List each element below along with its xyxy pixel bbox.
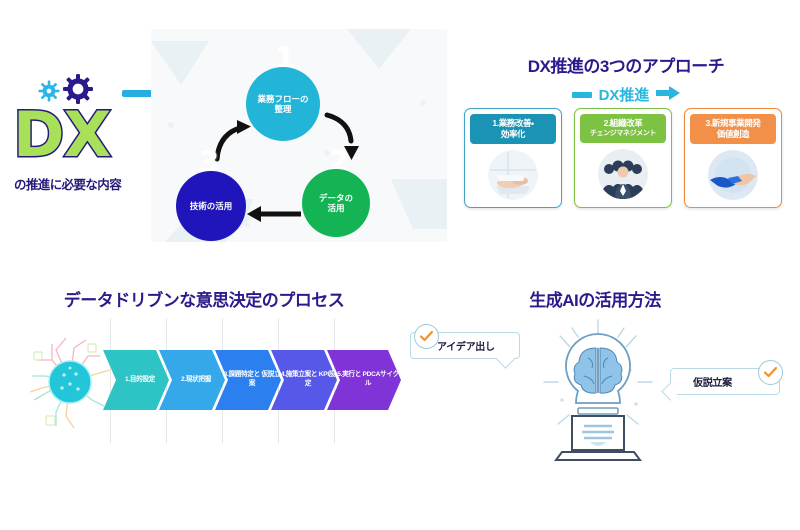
dx-subtitle: の推進に必要な内容 [14,174,121,193]
genai-bubble-2-label: 仮説立案 [693,374,732,389]
approach-card-3[interactable]: 3.新規事業開発 価値創造 [684,108,782,208]
approach-card-1-header: 1.業務改善・ 効率化 [470,114,556,144]
flow-circle-3[interactable]: 技術の活用 [176,171,246,241]
approach-card-3-header: 3.新規事業開発 価値創造 [690,114,776,144]
flow-circle-1[interactable]: 業務フローの 整理 [246,67,320,141]
process-step-3-line1: 3.課題特定と [224,371,260,378]
approach-subtitle-row: DX推進 [458,84,794,105]
approach-card-3-line2: 価値創造 [692,129,774,140]
dx-wordmark: DX [13,104,110,166]
process-section: データドリブンな意思決定のプロセス [18,286,390,446]
infographic-canvas: DX の推進に必要な内容 1 [0,0,800,530]
dx-flow-panel: 1 業務フローの 整理 2 データの 活用 3 技術の活用 [151,29,447,242]
circuit-sphere-icon [26,330,116,435]
process-step-5-line2: PDCAサイクル [363,371,399,387]
bubble-tail [496,350,514,368]
approach-card-2[interactable]: 2.組織改革 チェンジマネジメント [574,108,672,208]
bubble-tail [661,382,679,400]
process-step-1-line1: 1.目的設定 [125,376,155,383]
dash-icon [572,92,592,98]
laptop-hands-photo [488,150,538,200]
check-circle-icon [758,360,783,385]
approach-section: DX推進の3つのアプローチ DX推進 1.業務改善・ 効率化 [458,52,794,242]
flow-label-2-line2: 活用 [319,203,353,213]
approach-card-1[interactable]: 1.業務改善・ 効率化 [464,108,562,208]
process-body: 1.目的設定 2.現状把握 3.課題特定と 仮説立案 [18,318,390,443]
approach-title: DX推進の3つのアプローチ [458,52,794,77]
flow-label-3-line1: 技術の活用 [190,201,233,211]
genai-section: 生成AIの活用方法 [398,286,792,476]
genai-title: 生成AIの活用方法 [398,286,792,311]
approach-card-list: 1.業務改善・ 効率化 [464,108,790,208]
approach-subtitle: DX推進 [599,84,650,105]
process-title: データドリブンな意思決定のプロセス [18,286,390,311]
process-step-2-line1: 2.現状把握 [181,376,211,383]
check-circle-icon [414,324,439,349]
approach-card-2-line1: 2.組織改革 [582,118,664,129]
handshake-ai-photo [708,150,758,200]
process-step-5-line1: 5.実行と [337,371,361,378]
flow-label-1-line2: 整理 [257,104,308,114]
lightbulb-brain-icon [538,314,658,474]
flow-circle-2[interactable]: データの 活用 [302,169,370,237]
arrow-right-icon [656,86,680,104]
approach-card-1-line1: 1.業務改善・ [472,118,554,129]
process-step-5[interactable]: 5.実行と PDCAサイクル [327,350,401,410]
approach-card-2-header: 2.組織改革 チェンジマネジメント [580,114,666,143]
flow-label-1-line1: 業務フローの [257,94,308,104]
business-team-photo [598,149,648,199]
flow-label-2-line1: データの [319,193,353,203]
dx-logo-block: DX の推進に必要な内容 [8,68,153,208]
approach-card-3-line1: 3.新規事業開発 [692,118,774,129]
process-step-4-line1: 4.施策立案と [281,371,317,378]
genai-bubble-1-label: アイデア出し [437,338,495,353]
approach-card-2-sub: チェンジマネジメント [582,129,664,138]
approach-card-1-line2: 効率化 [472,129,554,140]
